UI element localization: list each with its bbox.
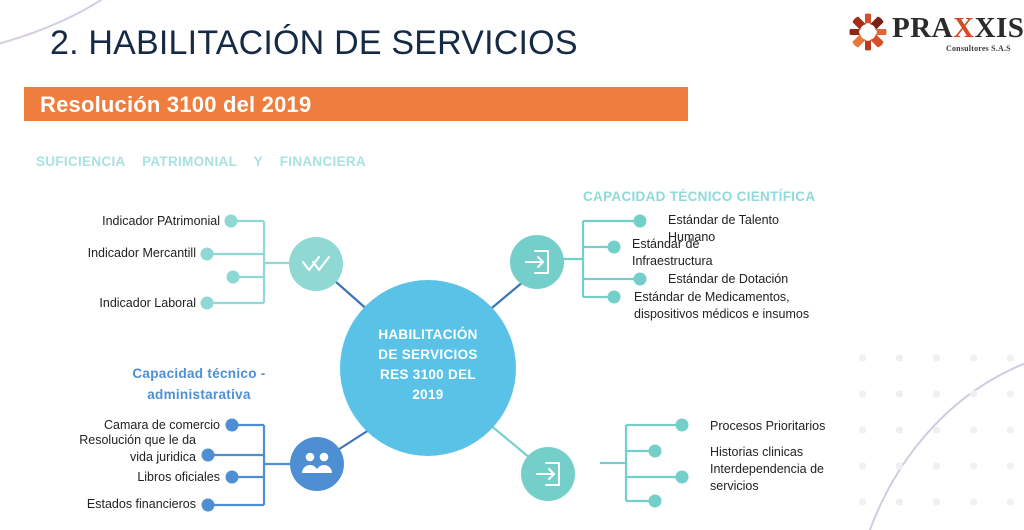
heading-capacidad-tecnico-administrativa: Capacidad técnico - administarativa <box>104 363 294 405</box>
branch-dot-br-3 <box>676 471 689 484</box>
branch-dot-bl-1 <box>226 419 239 432</box>
branch-dot-tl-2 <box>201 248 214 261</box>
branch-dot-br-1 <box>676 419 689 432</box>
node-label-indicador-laboral: Indicador Laboral <box>10 295 196 312</box>
branch-capacidad-tecnico-administrativa <box>202 419 345 512</box>
branch-dot-br-2 <box>649 445 662 458</box>
branch-dot-tr-1 <box>634 215 647 228</box>
branch-dot-tl-3 <box>227 271 240 284</box>
branch-procesos-prioritarios <box>521 419 689 508</box>
node-label-indicador-mercantil: Indicador Mercantill <box>10 245 196 262</box>
branch-dot-tr-2 <box>608 241 621 254</box>
node-label-estandar-dotacion: Estándar de Dotación <box>668 271 868 288</box>
branch-dot-tr-3 <box>634 273 647 286</box>
branch-dot-tr-4 <box>608 291 621 304</box>
node-label-estandar-medicamentos: Estándar de Medicamentos, dispositivos m… <box>634 289 864 323</box>
node-label-procesos-prioritarios: Procesos Prioritarios <box>710 418 930 435</box>
branch-dot-bl-3 <box>226 471 239 484</box>
branch-dot-tl-1 <box>225 215 238 228</box>
branch-dot-bl-4 <box>202 499 215 512</box>
center-node-label: HABILITACIÓN DE SERVICIOS RES 3100 DEL 2… <box>340 325 516 405</box>
heading-suficiencia-patrimonial-financiera: SUFICIENCIA PATRIMONIAL Y FINANCIERA <box>36 151 366 173</box>
branch-dot-tl-4 <box>201 297 214 310</box>
node-label-estados-financieros: Estados financieros <box>16 496 196 513</box>
branch-suficiencia-patrimonial-financiera <box>201 215 344 310</box>
branch-dot-bl-2 <box>202 449 215 462</box>
branch-icon-circle-tl[interactable] <box>289 237 343 291</box>
branch-dot-br-4 <box>649 495 662 508</box>
branch-icon-circle-bl[interactable] <box>290 437 344 491</box>
branch-capacidad-tecnico-cientifica <box>510 215 647 304</box>
heading-capacidad-tecnico-cientifica: CAPACIDAD TÉCNICO CIENTÍFICA <box>583 186 853 208</box>
node-label-libros-oficiales: Libros oficiales <box>40 469 220 486</box>
slide-canvas: 2. HABILITACIÓN DE SERVICIOS Resolución … <box>0 0 1024 530</box>
node-label-indicador-patrimonial: Indicador PAtrimonial <box>30 213 220 230</box>
node-label-resolucion-vida-juridica: Resolución que le da vida juridica <box>16 432 196 466</box>
node-label-historias-clinicas: Historias clinicas Interdependencia de s… <box>710 444 930 495</box>
node-label-estandar-infraestructura: Estándar de Infraestructura <box>632 236 782 270</box>
spoke-bottom-right <box>489 424 530 458</box>
